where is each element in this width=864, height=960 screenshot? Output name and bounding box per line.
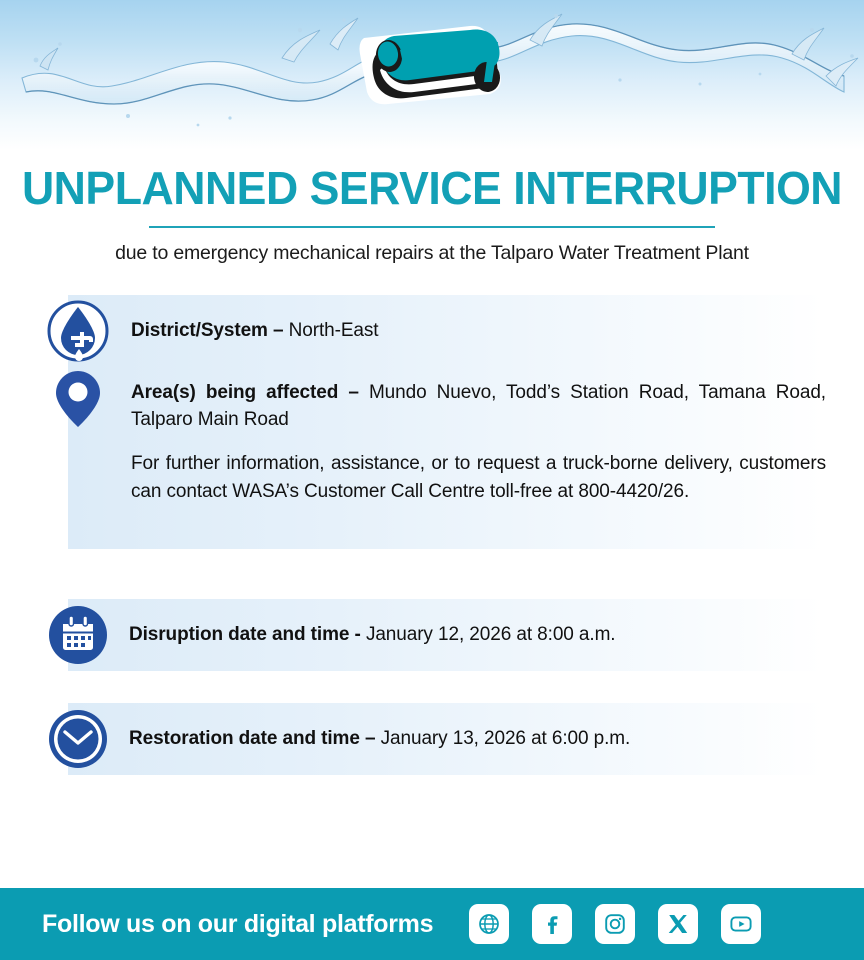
header-banner: WASA: [0, 0, 864, 150]
page-subtitle: due to emergency mechanical repairs at t…: [0, 242, 864, 265]
wasa-logo-mark: WASA: [358, 22, 506, 107]
footer-bar: Follow us on our digital platforms: [0, 888, 864, 960]
row-restoration-datetime: Restoration date and time – January 13, …: [0, 703, 864, 775]
row-area-affected: Area(s) being affected – Mundo Nuevo, To…: [0, 367, 864, 549]
row-area-label: Area(s) being affected: [131, 382, 338, 403]
row-restoration-text: Restoration date and time – January 13, …: [109, 726, 864, 753]
title-divider: [149, 226, 715, 228]
title-block: UNPLANNED SERVICE INTERRUPTION due to em…: [0, 150, 864, 265]
service-interruption-notice: WASA UNPLANNED SERVICE INTERRUPTION due …: [0, 0, 864, 960]
contact-information-paragraph: For further information, assistance, or …: [131, 450, 826, 505]
info-rows: District/System – North-East Area(s) bei…: [0, 295, 864, 775]
wasa-logo: WASA: [358, 22, 506, 107]
row-restoration-separator: –: [360, 728, 381, 749]
website-globe-icon[interactable]: [469, 904, 509, 944]
social-links: [469, 904, 761, 944]
row-restoration-label: Restoration date and time: [129, 728, 360, 749]
facebook-icon[interactable]: [532, 904, 572, 944]
row-disruption-datetime: Disruption date and time - January 12, 2…: [0, 599, 864, 671]
row-district-label: District/System: [131, 320, 268, 341]
follow-us-label: Follow us on our digital platforms: [42, 910, 433, 939]
page-title: UNPLANNED SERVICE INTERRUPTION: [13, 164, 851, 212]
water-drop-tap-icon: [47, 300, 109, 362]
row-district-value: North-East: [289, 320, 379, 341]
youtube-icon[interactable]: [721, 904, 761, 944]
calendar-icon: [47, 604, 109, 666]
row-area-text: Area(s) being affected – Mundo Nuevo, To…: [109, 367, 864, 505]
row-restoration-value: January 13, 2026 at 6:00 p.m.: [381, 728, 631, 749]
row-disruption-value: January 12, 2026 at 8:00 a.m.: [366, 624, 616, 645]
row-district-text: District/System – North-East: [109, 318, 864, 345]
map-pin-icon: [47, 367, 109, 429]
instagram-icon[interactable]: [595, 904, 635, 944]
row-area-separator: –: [338, 382, 369, 403]
row-disruption-label: Disruption date and time: [129, 624, 349, 645]
clock-icon: [47, 708, 109, 770]
row-district-separator: –: [268, 320, 289, 341]
row-district: District/System – North-East: [0, 295, 864, 367]
x-twitter-icon[interactable]: [658, 904, 698, 944]
row-disruption-text: Disruption date and time - January 12, 2…: [109, 622, 864, 649]
row-disruption-separator: -: [349, 624, 366, 645]
